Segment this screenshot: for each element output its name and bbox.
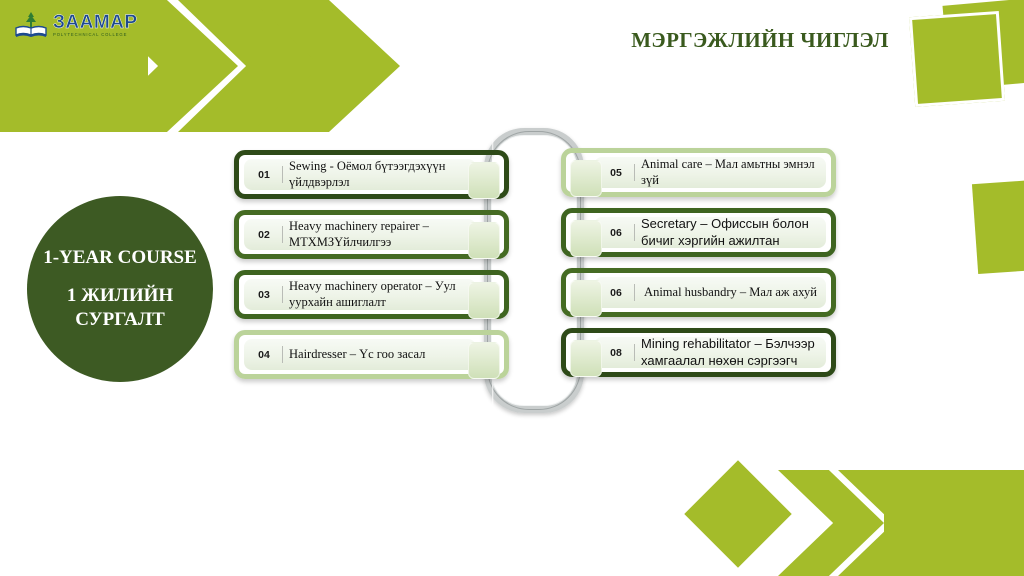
program-row-panel: 06 Secretary – Офиссын болон бичиг хэрги…	[594, 217, 826, 248]
program-row[interactable]: 03 Heavy machinery operator – Уул уурхай…	[234, 270, 509, 319]
row-tab	[570, 280, 602, 317]
college-logo: ЗААМАР POLYTECHNICAL COLLEGE	[14, 8, 138, 42]
program-row[interactable]: 06 Secretary – Офиссын болон бичиг хэрги…	[561, 208, 836, 257]
program-label: Sewing - Оёмол бүтээгдэхүүн үйлдвэрлэл	[283, 159, 476, 190]
row-tab	[468, 162, 500, 199]
row-tab	[570, 220, 602, 257]
program-label: Heavy machinery operator – Уул уурхайн а…	[283, 279, 476, 310]
bottom-right-green-block	[884, 470, 1024, 576]
course-duration-badge: 1-YEAR COURSE 1 ЖИЛИЙН СУРГАЛТ	[27, 196, 213, 382]
program-row-panel: 06 Animal husbandry – Мал аж ахуй	[594, 277, 826, 308]
row-tab	[468, 222, 500, 259]
logo-subtitle: POLYTECHNICAL COLLEGE	[53, 33, 138, 37]
program-row-panel: 04 Hairdresser – Үс гоо засал	[244, 339, 476, 370]
program-label: Secretary – Офиссын болон бичиг хэргийн …	[635, 216, 826, 249]
program-row[interactable]: 01 Sewing - Оёмол бүтээгдэхүүн үйлдвэрлэ…	[234, 150, 509, 199]
program-row-panel: 08 Mining rehabilitator – Бэлчээр хамгаа…	[594, 337, 826, 368]
badge-label-mn: 1 ЖИЛИЙН СУРГАЛТ	[27, 284, 213, 332]
book-tree-emblem-icon	[14, 10, 48, 40]
top-right-square-front	[909, 11, 1005, 107]
row-tab	[468, 342, 500, 379]
page-title: МЭРГЭЖЛИЙН ЧИГЛЭЛ	[620, 28, 900, 53]
right-program-column: 05 Animal care – Мал амьтны эмнэл зүй 06…	[561, 148, 836, 388]
program-label: Mining rehabilitator – Бэлчээр хамгаалал…	[635, 336, 826, 369]
logo-wordmark: ЗААМАР	[53, 13, 138, 32]
program-row[interactable]: 02 Heavy machinery repairer – МТХМЗҮйлчи…	[234, 210, 509, 259]
program-label: Animal husbandry – Мал аж ахуй	[635, 285, 826, 301]
row-tab	[570, 340, 602, 377]
program-row[interactable]: 04 Hairdresser – Үс гоо засал	[234, 330, 509, 379]
row-tab	[468, 282, 500, 319]
program-row[interactable]: 06 Animal husbandry – Мал аж ахуй	[561, 268, 836, 317]
program-number: 01	[244, 169, 282, 181]
program-row-panel: 03 Heavy machinery operator – Уул уурхай…	[244, 279, 476, 310]
program-row[interactable]: 08 Mining rehabilitator – Бэлчээр хамгаа…	[561, 328, 836, 377]
program-row-panel: 01 Sewing - Оёмол бүтээгдэхүүн үйлдвэрлэ…	[244, 159, 476, 190]
row-tab	[570, 160, 602, 197]
program-row-panel: 05 Animal care – Мал амьтны эмнэл зүй	[594, 157, 826, 188]
program-number: 04	[244, 349, 282, 361]
program-row-panel: 02 Heavy machinery repairer – МТХМЗҮйлчи…	[244, 219, 476, 250]
right-edge-square	[972, 180, 1024, 274]
program-label: Hairdresser – Үс гоо засал	[283, 347, 476, 363]
bottom-right-diamond	[684, 460, 791, 567]
program-label: Animal care – Мал амьтны эмнэл зүй	[635, 157, 826, 188]
program-number: 03	[244, 289, 282, 301]
program-number: 02	[244, 229, 282, 241]
left-program-column: 01 Sewing - Оёмол бүтээгдэхүүн үйлдвэрлэ…	[234, 150, 509, 390]
program-label: Heavy machinery repairer – МТХМЗҮйлчилгэ…	[283, 219, 476, 250]
badge-label-en: 1-YEAR COURSE	[43, 246, 197, 270]
program-row[interactable]: 05 Animal care – Мал амьтны эмнэл зүй	[561, 148, 836, 197]
slide-canvas: ЗААМАР POLYTECHNICAL COLLEGE МЭРГЭЖЛИЙН …	[0, 0, 1024, 576]
